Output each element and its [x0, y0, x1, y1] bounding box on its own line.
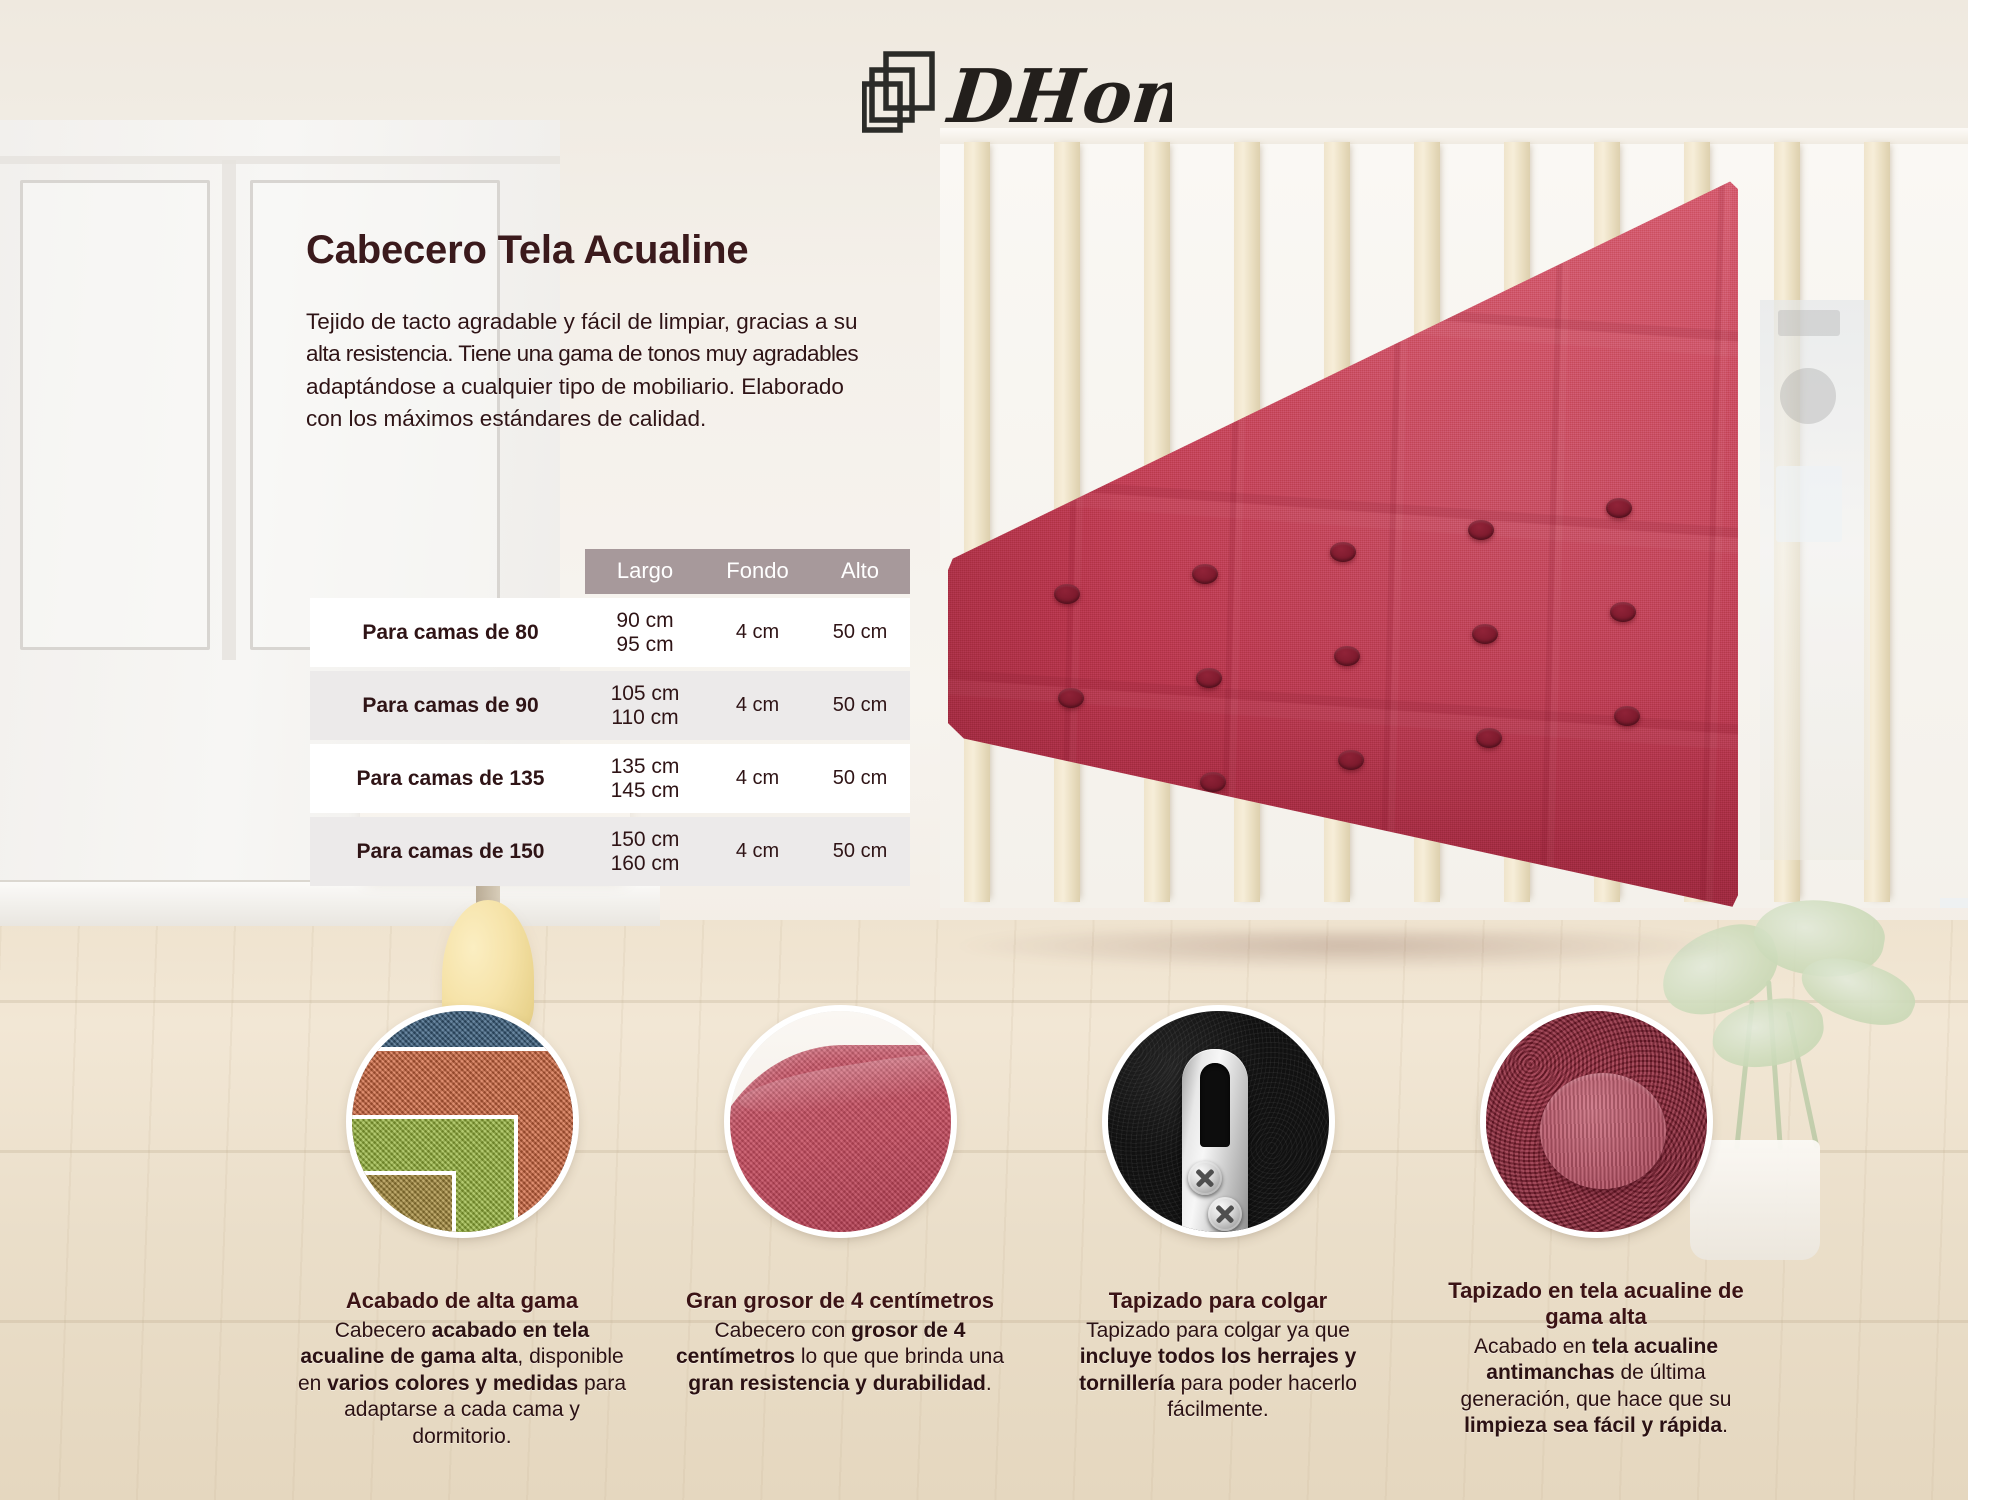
caption-title: Acabado de alta gama — [297, 1288, 627, 1314]
feature-block-1 — [312, 1005, 612, 1238]
row-fondo: 4 cm — [705, 744, 810, 813]
row-label: Para camas de 135 — [310, 744, 585, 813]
phillips-screw — [1208, 1197, 1242, 1231]
acualine-fabric-button-photo — [1480, 1005, 1713, 1238]
table-header-alto: Alto — [810, 549, 910, 594]
row-fondo: 4 cm — [705, 671, 810, 740]
product-description: Tejido de tacto agradable y fácil de lim… — [306, 306, 914, 436]
table-row: Para camas de 150 150 cm 160 cm 4 cm 50 … — [310, 817, 910, 886]
caption-body: Acabado en tela acualine antimanchas de … — [1431, 1334, 1761, 1440]
wall-rail — [0, 156, 560, 164]
description-line: alta resistencia. Tiene una gama de tono… — [306, 338, 914, 370]
largo-value: 150 cm — [585, 828, 705, 852]
description-line: Tejido de tacto agradable y fácil de lim… — [306, 306, 914, 338]
largo-value: 105 cm — [585, 682, 705, 706]
largo-value: 135 cm — [585, 755, 705, 779]
feature-caption-3: Tapizado para colgar Tapizado para colga… — [1053, 1288, 1383, 1424]
table-header-largo: Largo — [585, 549, 705, 594]
wall-stile — [222, 160, 236, 660]
largo-value: 110 cm — [585, 706, 705, 730]
row-alto: 50 cm — [810, 744, 910, 813]
largo-value: 145 cm — [585, 779, 705, 803]
shelf-clock — [1780, 368, 1836, 424]
table-header-blank — [310, 549, 585, 594]
brand-logo: DHome — [862, 48, 1172, 140]
feature-caption-1: Acabado de alta gama Cabecero acabado en… — [297, 1288, 627, 1450]
feature-caption-4: Tapizado en tela acualine de gama alta A… — [1431, 1278, 1761, 1440]
feature-caption-2: Gran grosor de 4 centímetros Cabecero co… — [675, 1288, 1005, 1397]
right-white-margin — [1968, 0, 2000, 1500]
description-line: adaptándose a cualquier tipo de mobiliar… — [306, 371, 914, 403]
phillips-screw — [1188, 1161, 1222, 1195]
row-fondo: 4 cm — [705, 598, 810, 667]
infographic-canvas: DHome Cabecero Tela Acualine Tejido de t… — [0, 0, 2000, 1500]
row-largo: 150 cm 160 cm — [585, 817, 705, 886]
row-largo: 105 cm 110 cm — [585, 671, 705, 740]
row-label: Para camas de 90 — [310, 671, 585, 740]
shelf-object — [1778, 310, 1840, 336]
row-label: Para camas de 80 — [310, 598, 585, 667]
fabric-thickness-closeup-photo — [724, 1005, 957, 1238]
row-label: Para camas de 150 — [310, 817, 585, 886]
largo-value: 95 cm — [585, 633, 705, 657]
headboard-shadow — [960, 930, 1730, 970]
wall-panel-box — [20, 180, 210, 650]
row-alto: 50 cm — [810, 671, 910, 740]
page-title: Cabecero Tela Acualine — [306, 228, 748, 273]
caption-title: Gran grosor de 4 centímetros — [675, 1288, 1005, 1314]
largo-value: 160 cm — [585, 852, 705, 876]
feature-block-2 — [690, 1005, 990, 1238]
measurements-table: Largo Fondo Alto Para camas de 80 90 cm … — [310, 545, 910, 890]
caption-body: Tapizado para colgar ya que incluye todo… — [1053, 1318, 1383, 1424]
window-hint — [1940, 898, 1968, 908]
overlapping-squares-icon — [864, 54, 932, 130]
row-fondo: 4 cm — [705, 817, 810, 886]
row-largo: 135 cm 145 cm — [585, 744, 705, 813]
upholstery-button — [1540, 1073, 1666, 1189]
caption-title: Tapizado en tela acualine de gama alta — [1431, 1278, 1761, 1330]
table-header-fondo: Fondo — [705, 549, 810, 594]
table-row: Para camas de 90 105 cm 110 cm 4 cm 50 c… — [310, 671, 910, 740]
table-row: Para camas de 135 135 cm 145 cm 4 cm 50 … — [310, 744, 910, 813]
row-largo: 90 cm 95 cm — [585, 598, 705, 667]
table-row: Para camas de 80 90 cm 95 cm 4 cm 50 cm — [310, 598, 910, 667]
swatch-olive — [346, 1171, 456, 1238]
wall-hanging-bracket-photo — [1102, 1005, 1335, 1238]
feature-block-3 — [1068, 1005, 1368, 1238]
feature-block-4 — [1446, 1005, 1746, 1238]
logo-wordmark: DHome — [942, 53, 1172, 140]
wood-slat — [964, 142, 990, 902]
row-alto: 50 cm — [810, 817, 910, 886]
shelf-frame — [1776, 466, 1842, 542]
metal-hanging-bracket — [1182, 1049, 1248, 1234]
bracket-keyhole-slot — [1200, 1063, 1230, 1147]
caption-body: Cabecero con grosor de 4 centímetros lo … — [675, 1318, 1005, 1397]
table-header-row: Largo Fondo Alto — [310, 549, 910, 594]
caption-title: Tapizado para colgar — [1053, 1288, 1383, 1314]
row-alto: 50 cm — [810, 598, 910, 667]
description-line: con los máximos estándares de calidad. — [306, 403, 914, 435]
caption-body: Cabecero acabado en tela acualine de gam… — [297, 1318, 627, 1450]
largo-value: 90 cm — [585, 609, 705, 633]
fabric-color-swatches-photo — [346, 1005, 579, 1238]
